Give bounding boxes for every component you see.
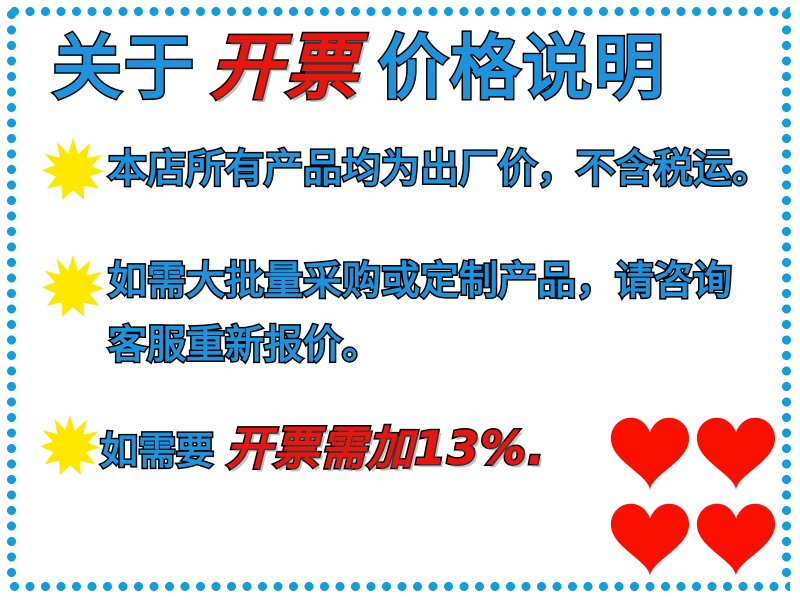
heart-icon	[610, 502, 690, 576]
bullet-2-line-2: 客服重新报价。	[108, 322, 381, 370]
starburst-icon	[40, 415, 100, 475]
border-dots-left	[7, 10, 16, 582]
bullet-3-emphasis-surcharge: 开票需加13%.	[226, 420, 546, 476]
page-title: 关于 开票 价格说明	[52, 22, 666, 112]
bullet-1-line-1: 本店所有产品均为出厂价，不含税运。	[108, 146, 771, 194]
starburst-icon	[42, 255, 104, 317]
bullet-3-content: 如需要 开票需加13%.	[100, 420, 546, 479]
heart-icon	[610, 416, 690, 490]
bullet-3-prefix: 如需要	[100, 423, 214, 479]
border-dots-right	[782, 10, 791, 582]
title-part-2: 价格说明	[378, 23, 666, 113]
bullet-2-line-1: 如需大批量采购或定制产品，请咨询	[108, 258, 732, 306]
heart-icon	[696, 416, 776, 490]
heart-icon	[696, 502, 776, 576]
border-dots-top	[10, 7, 790, 16]
starburst-icon	[42, 138, 104, 200]
title-highlight-invoice: 开票	[210, 22, 360, 112]
title-part-1: 关于	[52, 23, 196, 113]
border-dots-bottom	[10, 582, 790, 591]
poster-canvas: 关于 开票 价格说明 本店所有产品均为出厂价，不含税运。 如需大批量采购或定制产…	[0, 0, 800, 600]
